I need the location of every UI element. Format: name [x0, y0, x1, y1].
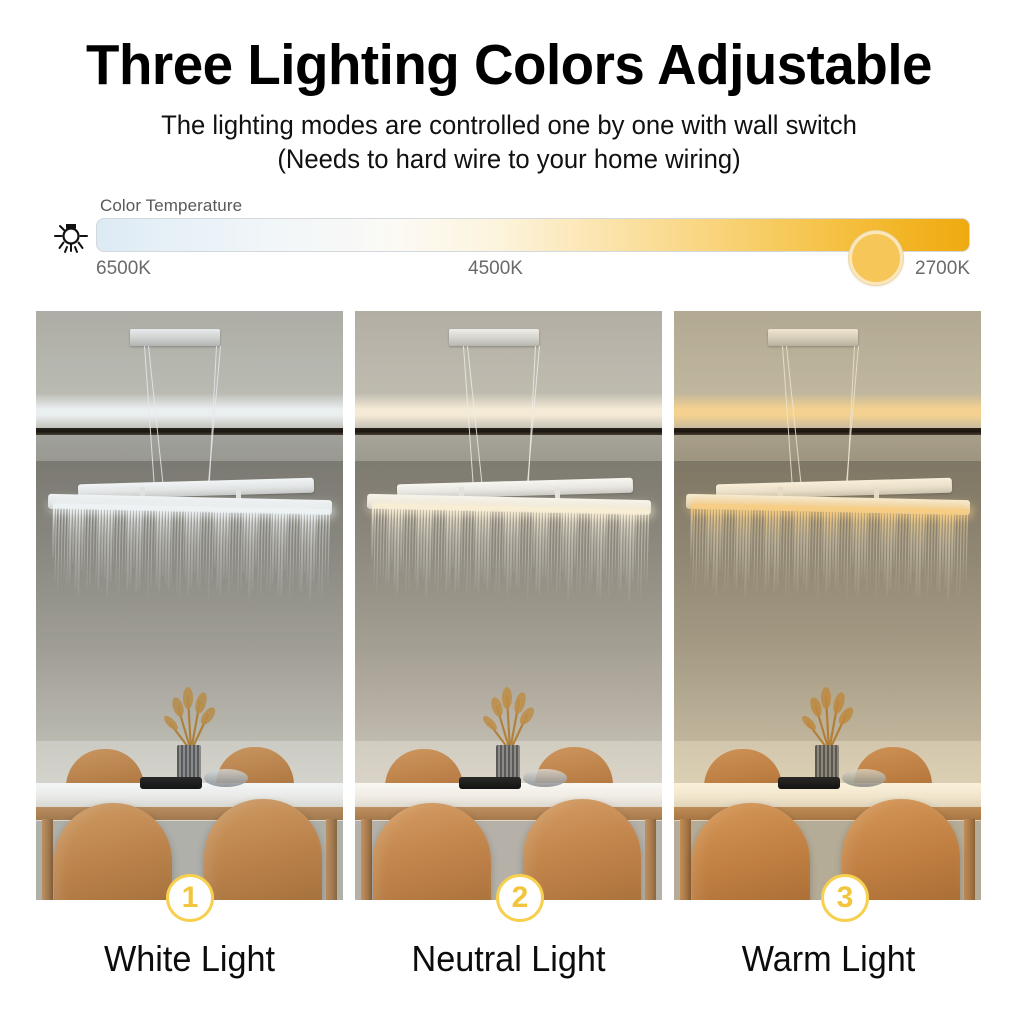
chandelier [40, 479, 340, 609]
cove-light [674, 393, 981, 429]
serving-tray [459, 777, 521, 789]
table-leg [645, 819, 656, 900]
slider-thumb[interactable] [849, 231, 903, 285]
ceiling-mount-plate [130, 329, 220, 346]
dried-pampas [796, 685, 862, 753]
glass-bowl [523, 769, 567, 787]
slider-tick-6500k: 6500K [96, 258, 151, 280]
ceiling-band [355, 428, 662, 435]
table-leg [361, 819, 372, 900]
chandelier-fringe-3 [689, 506, 969, 604]
panel-neutral-light[interactable] [355, 311, 662, 900]
lightbulb-icon [50, 216, 92, 258]
wall-upper [674, 435, 981, 463]
cove-glow-3 [674, 393, 981, 429]
chandelier-fringe-1 [51, 506, 331, 604]
wall-upper [36, 435, 343, 463]
glass-bowl [204, 769, 248, 787]
slider-track[interactable] [96, 218, 970, 252]
table-leg [42, 819, 53, 900]
glass-bowl [842, 769, 886, 787]
ceiling-band [36, 428, 343, 435]
infographic-page: Three Lighting Colors Adjustable The lig… [0, 0, 1018, 1018]
table-leg [964, 819, 975, 900]
wall-upper [355, 435, 662, 463]
chandelier-fringe-2 [370, 506, 650, 604]
lighting-mode-panels [36, 311, 982, 900]
caption-warm-light: Warm Light [683, 938, 975, 980]
table-leg [326, 819, 337, 900]
panel-warm-light[interactable] [674, 311, 981, 900]
cove-light [355, 393, 662, 429]
cove-light [36, 393, 343, 429]
cove-glow-1 [36, 393, 343, 429]
table-leg [680, 819, 691, 900]
subtitle-line-1: The lighting modes are controlled one by… [25, 110, 992, 141]
slider-tick-2700k: 2700K [915, 258, 970, 280]
subtitle-line-2: (Needs to hard wire to your home wiring) [25, 144, 992, 175]
ceiling-mount-plate [449, 329, 539, 346]
color-temperature-slider[interactable]: Color Temperature 6500K [48, 196, 970, 286]
serving-tray [140, 777, 202, 789]
cove-glow-2 [355, 393, 662, 429]
caption-white-light: White Light [44, 938, 336, 980]
ceiling-band [674, 428, 981, 435]
page-title: Three Lighting Colors Adjustable [20, 32, 997, 98]
dried-pampas [477, 685, 543, 753]
badge-step-1: 1 [166, 874, 214, 922]
badge-step-3: 3 [821, 874, 869, 922]
badge-step-2: 2 [496, 874, 544, 922]
caption-neutral-light: Neutral Light [363, 938, 655, 980]
serving-tray [778, 777, 840, 789]
ceiling-mount-plate [768, 329, 858, 346]
slider-tick-4500k: 4500K [468, 258, 523, 280]
slider-label: Color Temperature [100, 196, 242, 216]
chandelier [359, 479, 659, 609]
chandelier [678, 479, 978, 609]
panel-white-light[interactable] [36, 311, 343, 900]
dried-pampas [158, 685, 224, 753]
